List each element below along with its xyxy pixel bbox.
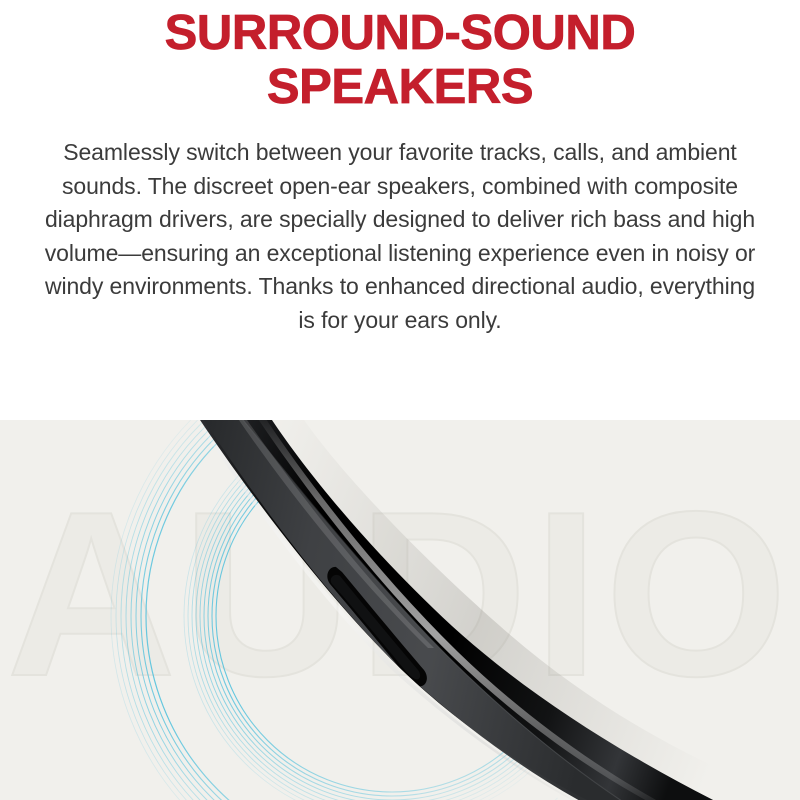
headline-line-1: SURROUND-SOUND (0, 6, 800, 60)
product-image-panel: AUDIO (0, 420, 800, 800)
text-panel: SURROUND-SOUND SPEAKERS Seamlessly switc… (0, 0, 800, 420)
product-photo: AUDIO (0, 420, 800, 800)
page-title: SURROUND-SOUND SPEAKERS (0, 0, 800, 114)
body-copy: Seamlessly switch between your favorite … (0, 114, 800, 337)
headline-line-2: SPEAKERS (0, 60, 800, 114)
product-banner-page: SURROUND-SOUND SPEAKERS Seamlessly switc… (0, 0, 800, 800)
